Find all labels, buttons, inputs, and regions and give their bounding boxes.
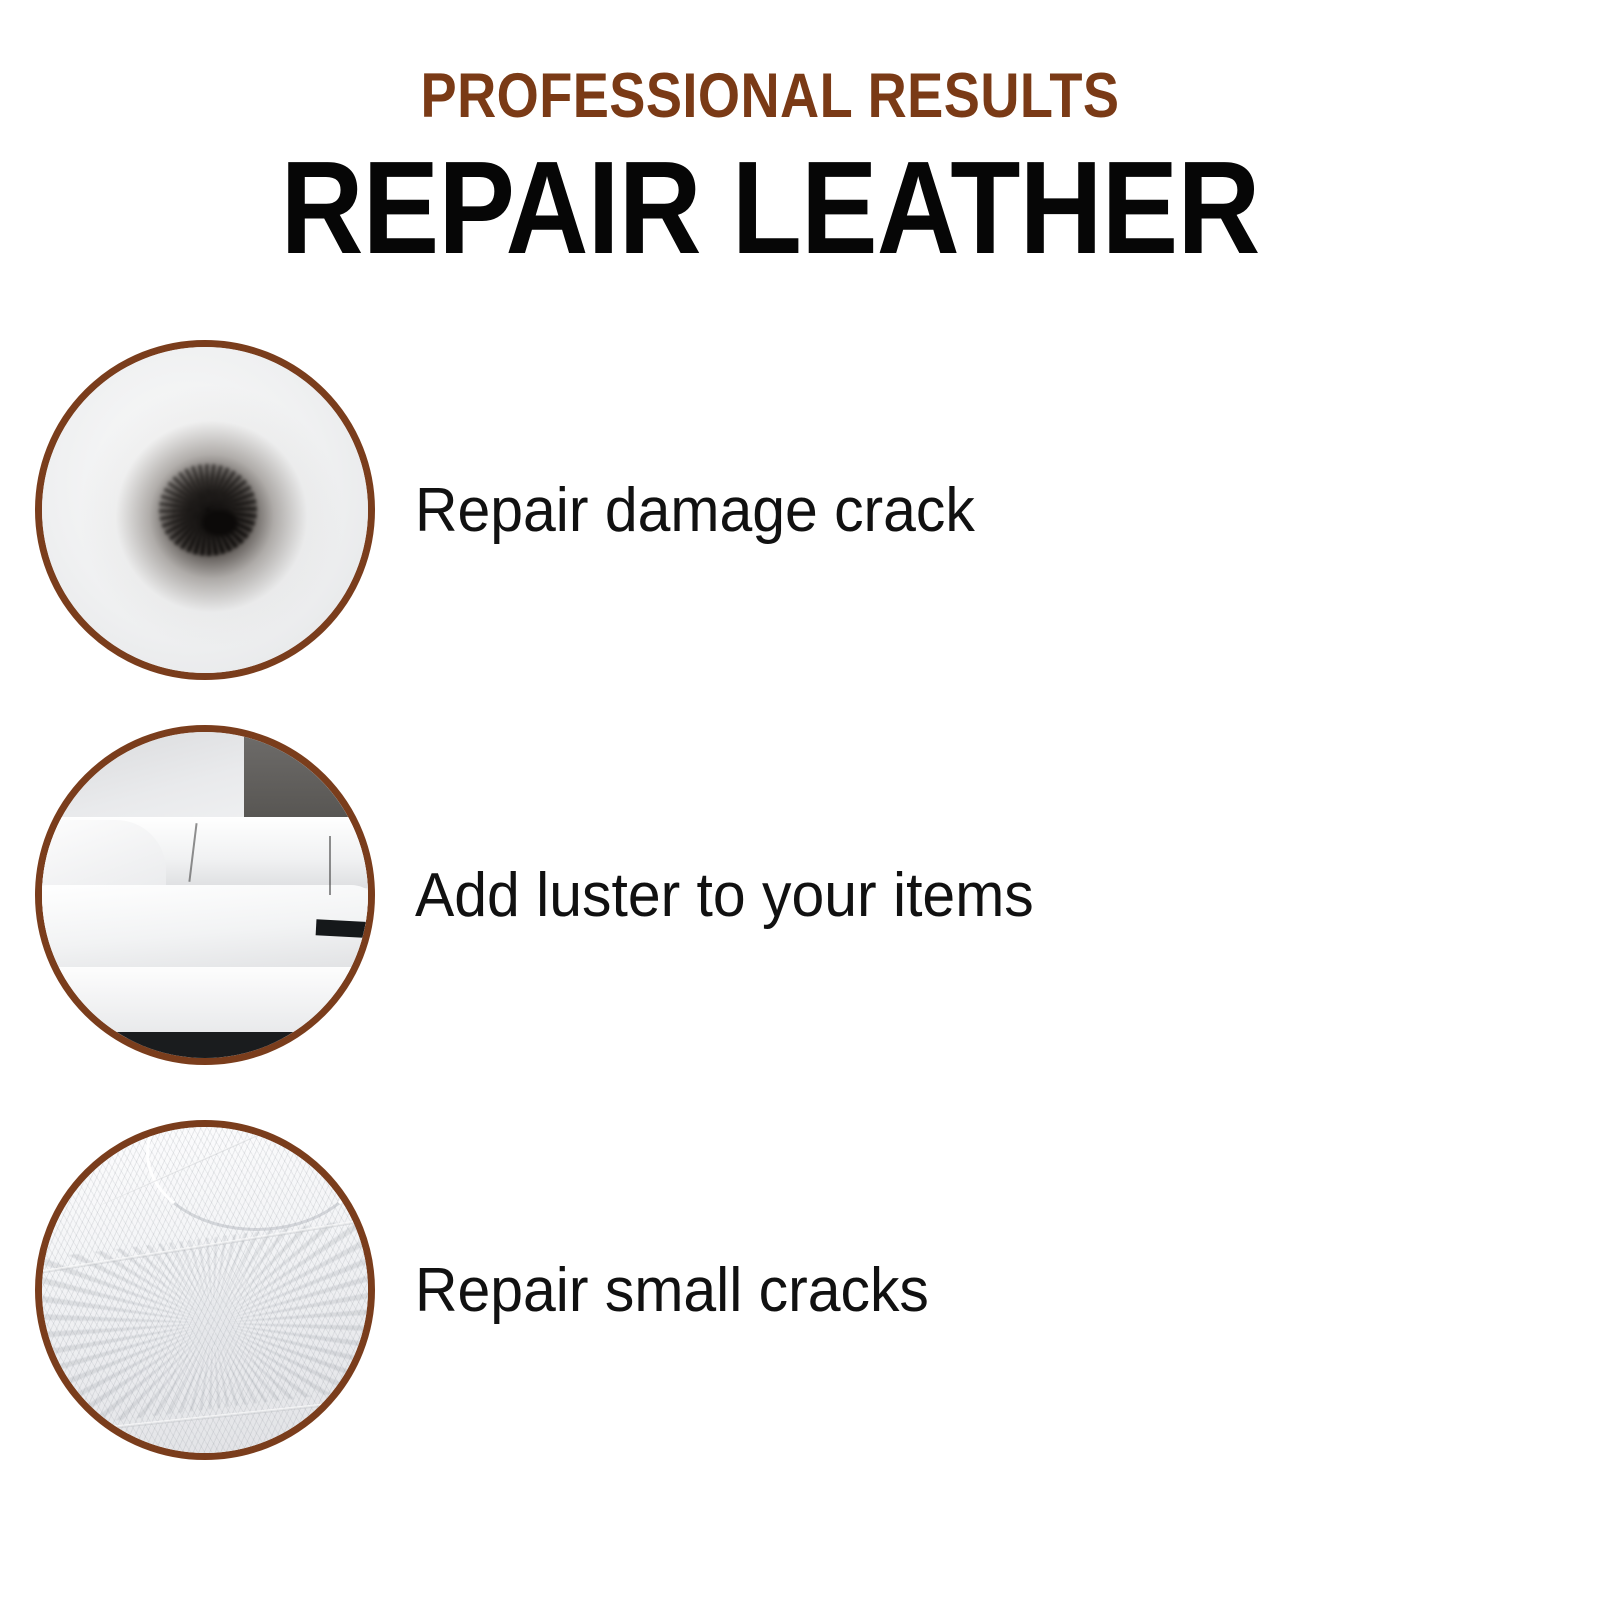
damage-texture	[159, 464, 257, 555]
sofa-thumb-front-panel	[35, 967, 375, 1039]
sofa-thumb-wall	[244, 732, 368, 817]
feature-item-3: Repair small cracks	[35, 1120, 1235, 1460]
damage-core	[202, 510, 238, 536]
thumbnail-repair-small-cracks	[35, 1120, 375, 1460]
thumbnail-add-luster	[35, 725, 375, 1065]
text-layer: PROFESSIONAL RESULTS REPAIR LEATHER Repa…	[0, 0, 1600, 1600]
feature-label-3: Repair small cracks	[415, 1255, 929, 1326]
feature-item-2: Add luster to your items	[35, 725, 1235, 1065]
feature-label-2: Add luster to your items	[415, 860, 1034, 931]
eyebrow-heading: PROFESSIONAL RESULTS	[108, 60, 1432, 132]
sofa-thumb-seam-b	[329, 836, 331, 895]
page-title: REPAIR LEATHER	[100, 142, 1440, 274]
leather-fold-arc	[146, 1120, 367, 1231]
thumbnail-repair-damage-crack	[35, 340, 375, 680]
feature-label-1: Repair damage crack	[415, 475, 975, 546]
leather-fine-cracks-photo	[42, 1127, 368, 1453]
leather-damage-spot-photo	[42, 347, 368, 673]
feature-item-1: Repair damage crack	[35, 340, 1235, 680]
promo-poster: PROFESSIONAL RESULTS REPAIR LEATHER Repa…	[0, 0, 1600, 1600]
white-leather-sofa-photo	[42, 732, 368, 1058]
sofa-thumb-base-shadow	[101, 1032, 329, 1065]
